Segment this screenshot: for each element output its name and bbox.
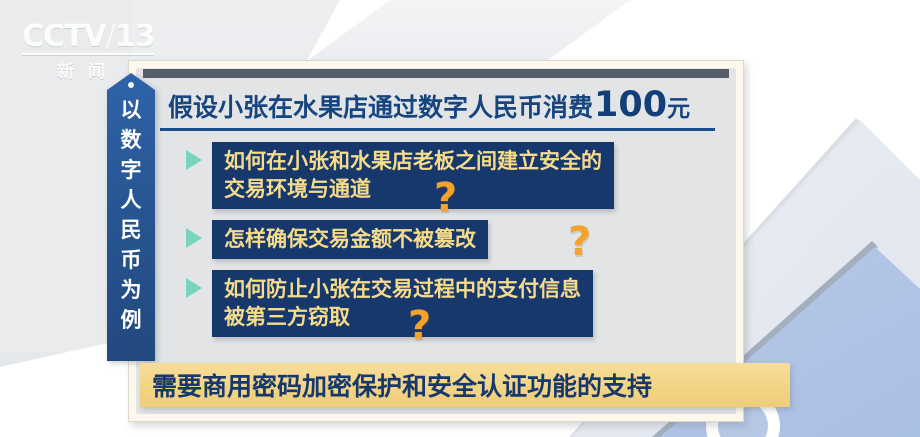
side-tag-char: 数: [107, 125, 155, 155]
bullet-line: 被第三方窃取: [224, 303, 581, 331]
list-item: 如何在小张和水果店老板之间建立安全的 交易环境与通道 ?: [186, 142, 716, 209]
side-tag-char: 币: [107, 245, 155, 275]
triangle-arrow-icon: [186, 228, 202, 248]
list-item: 如何防止小张在交易过程中的支付信息 被第三方窃取 ?: [186, 270, 716, 337]
side-tag-char: 例: [107, 305, 155, 335]
headline-amount: 100: [594, 90, 667, 120]
headline-unit: 元: [667, 89, 690, 123]
footer-banner-text: 需要商用密码加密保护和安全认证功能的支持: [140, 367, 652, 403]
headline-underline: [160, 128, 715, 131]
triangle-arrow-icon: [186, 278, 202, 298]
side-tag-char: 民: [107, 215, 155, 245]
side-tag-hole-icon: [128, 82, 134, 88]
side-tag-label: 以 数 字 人 民 币 为 例: [107, 95, 155, 335]
bullet-box: 怎样确保交易金额不被篡改: [212, 220, 488, 259]
question-mark-icon: ?: [568, 222, 591, 262]
bullet-line: 怎样确保交易金额不被篡改: [224, 225, 476, 253]
side-tag-char: 字: [107, 155, 155, 185]
side-tag-char: 以: [107, 95, 155, 125]
bullet-line: 交易环境与通道: [224, 175, 602, 203]
footer-banner: 需要商用密码加密保护和安全认证功能的支持: [140, 363, 790, 407]
side-tag-char: 为: [107, 275, 155, 305]
bullet-line: 如何在小张和水果店老板之间建立安全的: [224, 147, 602, 175]
broadcast-graphic: CCTV/13 新闻 以 数 字 人 民 币 为 例 假设小张在水果店通过数字人…: [0, 0, 920, 437]
bullet-list: 如何在小张和水果店老板之间建立安全的 交易环境与通道 ? 怎样确保交易金额不被篡…: [186, 142, 716, 348]
headline: 假设小张在水果店通过数字人民币消费 100 元: [168, 88, 713, 124]
bullet-box: 如何在小张和水果店老板之间建立安全的 交易环境与通道: [212, 142, 614, 209]
list-item: 怎样确保交易金额不被篡改 ?: [186, 220, 716, 259]
content-panel-top-bar: [143, 69, 729, 78]
bullet-box: 如何防止小张在交易过程中的支付信息 被第三方窃取: [212, 270, 593, 337]
side-tag-char: 人: [107, 185, 155, 215]
bullet-line: 如何防止小张在交易过程中的支付信息: [224, 275, 581, 303]
triangle-arrow-icon: [186, 150, 202, 170]
side-tag-ribbon: 以 数 字 人 民 币 为 例: [107, 73, 155, 361]
headline-text: 假设小张在水果店通过数字人民币消费: [168, 88, 593, 124]
